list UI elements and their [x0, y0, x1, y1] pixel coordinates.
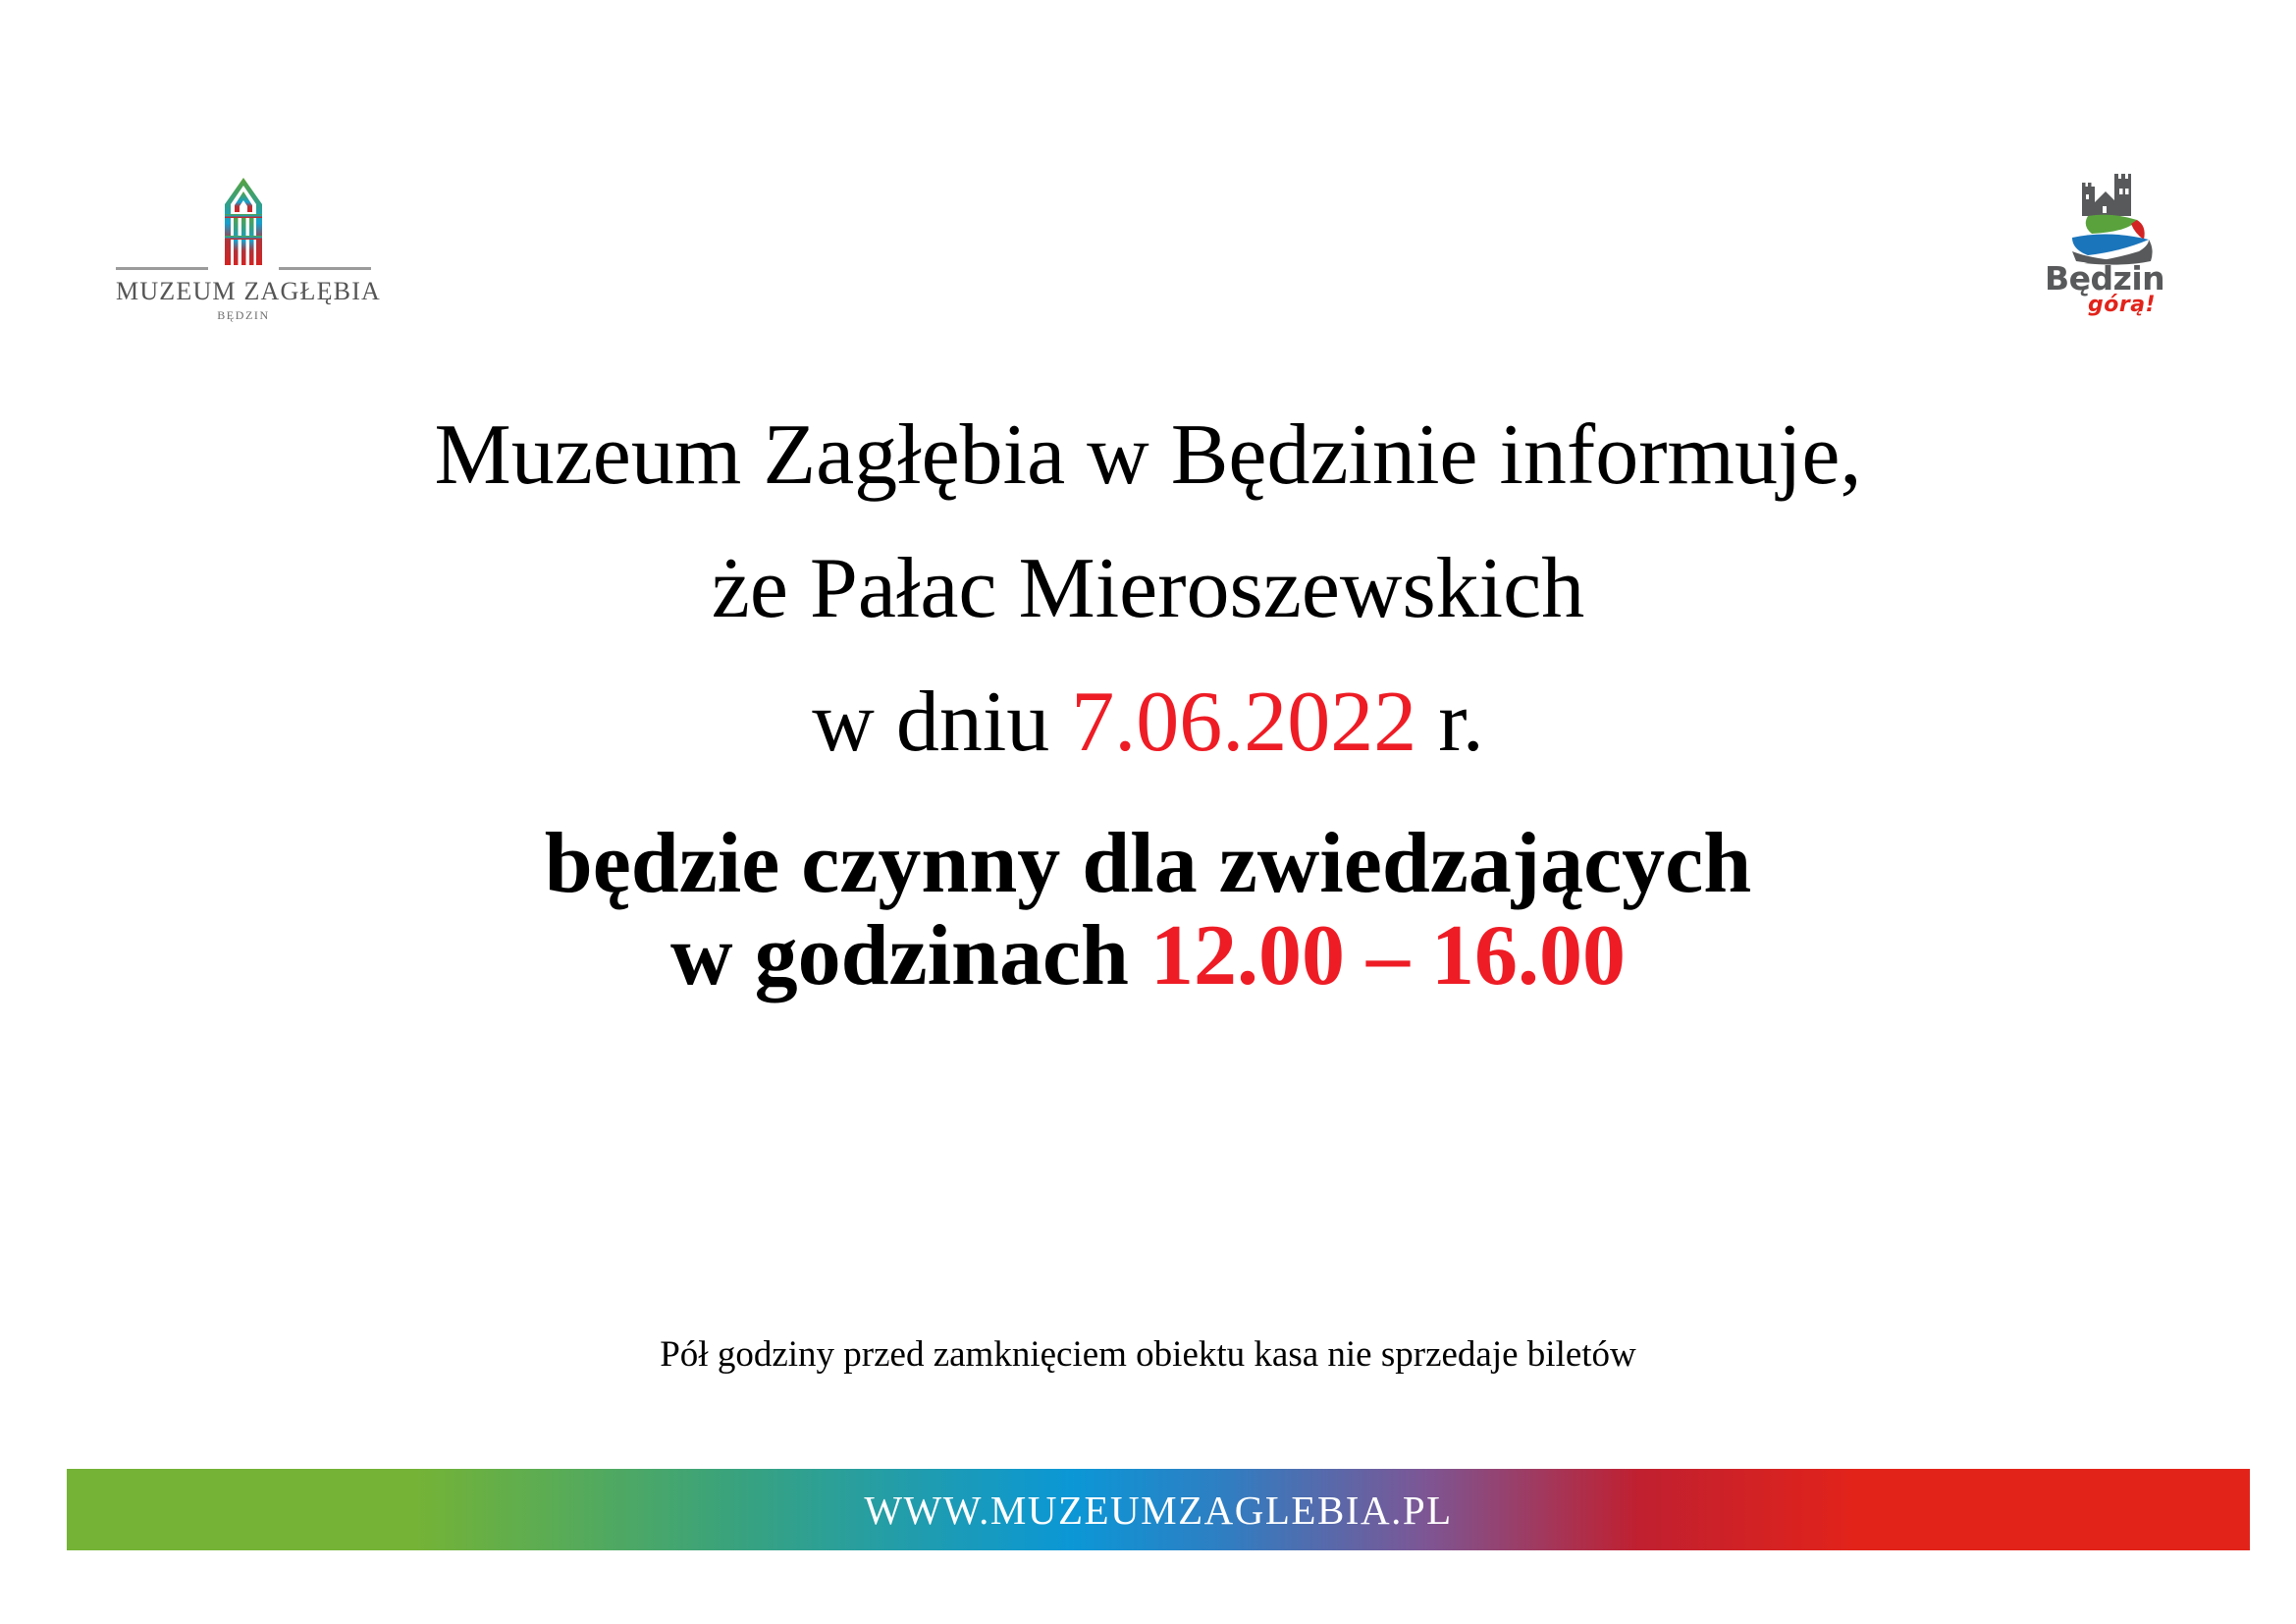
- museum-logo-name: MUZEUM ZAGŁĘBIA: [116, 277, 371, 306]
- footer-gradient-bar: WWW.MUZEUMZAGLEBIA.PL: [67, 1469, 2250, 1550]
- ticket-office-note: Pół godziny przed zamknięciem obiektu ka…: [0, 1333, 2296, 1376]
- opening-hours: 12.00 – 16.00: [1150, 908, 1626, 1003]
- date-prefix: w dniu: [812, 675, 1071, 770]
- announcement-line-2: że Pałac Mieroszewskich: [0, 546, 2296, 632]
- gothic-window-icon: [212, 175, 275, 269]
- website-url[interactable]: WWW.MUZEUMZAGLEBIA.PL: [864, 1487, 1452, 1534]
- hours-prefix: w godzinach: [670, 908, 1150, 1003]
- announcement-line-4: będzie czynny dla zwiedzających: [0, 821, 2296, 907]
- opening-date: 7.06.2022: [1071, 675, 1416, 770]
- announcement-block: Muzeum Zagłębia w Będzinie informuje, że…: [0, 412, 2296, 1000]
- bedzin-castle-hill-icon: [2053, 165, 2170, 273]
- announcement-line-3: w dniu 7.06.2022 r.: [0, 679, 2296, 766]
- date-suffix: r.: [1416, 675, 1483, 770]
- museum-logo-subtitle: BĘDZIN: [116, 308, 371, 323]
- museum-zaglebia-logo: MUZEUM ZAGŁĘBIA BĘDZIN: [116, 175, 371, 322]
- announcement-line-5: w godzinach 12.00 – 16.00: [0, 913, 2296, 1000]
- bedzin-city-logo: Będzin górą!: [2045, 165, 2192, 322]
- bedzin-logo-tagline: górą!: [2088, 293, 2156, 317]
- announcement-line-1: Muzeum Zagłębia w Będzinie informuje,: [0, 412, 2296, 499]
- logo-divider-rules: [116, 267, 371, 270]
